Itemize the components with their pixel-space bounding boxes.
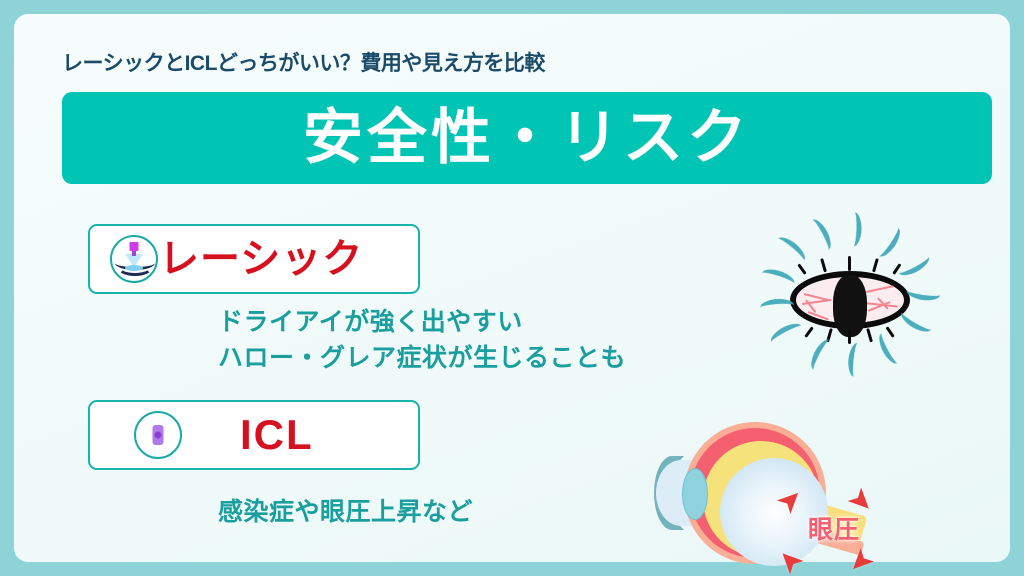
irritation-line	[768, 320, 802, 344]
eyelash	[886, 326, 895, 338]
implantable-lens-icon	[134, 411, 182, 459]
eyelash	[866, 328, 873, 342]
irritation-line	[807, 336, 831, 370]
eye-iris	[833, 275, 867, 337]
eyebrow-heading: レーシックとICLどっちがいい？費用や見え方を比較	[62, 47, 545, 77]
method-label-icl: ICL	[88, 400, 420, 470]
eye-vein	[808, 311, 829, 320]
method-label-lasik: レーシック	[88, 224, 420, 294]
lasik-risk-description: ドライアイが強く出やすい ハロー・グレア症状が生じることも	[218, 305, 626, 376]
icl-risk-line-1: 感染症や眼圧上昇など	[218, 495, 473, 531]
eye-sclera	[790, 271, 910, 329]
eye-vein	[866, 285, 894, 292]
irritation-line	[852, 212, 862, 246]
eyelash	[848, 256, 851, 271]
irritation-line	[878, 227, 904, 260]
lasik-risk-line-1: ドライアイが強く出やすい	[218, 305, 626, 341]
icl-lens-optic	[155, 432, 162, 439]
eye-graphic	[790, 271, 910, 329]
slide-card: レーシックとICLどっちがいい？費用や見え方を比較 安全性・リスク レーシック …	[14, 14, 1010, 562]
intraocular-pressure-diagram: ➤ ➤ ➤ ➤ 眼圧	[642, 420, 872, 576]
page-title: 安全性・リスク	[303, 108, 751, 168]
irritation-line	[875, 332, 899, 366]
laser-emitter-tip	[130, 242, 139, 251]
icl-risk-description: 感染症や眼圧上昇など	[218, 495, 473, 531]
eyelash	[797, 263, 806, 274]
pressure-arrow: ➤	[771, 542, 810, 576]
dry-irritated-eye-illustration	[762, 219, 938, 379]
retina-layer: ➤ ➤ ➤ ➤ 眼圧	[703, 441, 819, 557]
irritation-line	[811, 216, 835, 250]
method-label-text-lasik: レーシック	[159, 239, 363, 279]
eyelash	[848, 329, 851, 344]
eyelash	[820, 258, 827, 272]
laser-focus-pool	[125, 265, 143, 271]
pressure-label: 眼圧	[788, 510, 880, 546]
laser-eye-icon	[110, 235, 158, 283]
crystalline-lens	[682, 468, 708, 520]
eyelash	[804, 326, 813, 337]
eyelash	[872, 258, 879, 272]
slide-frame: レーシックとICLどっちがいい？費用や見え方を比較 安全性・リスク レーシック …	[0, 0, 1024, 576]
title-banner: 安全性・リスク	[62, 92, 992, 184]
irritation-line	[906, 289, 941, 303]
sclera-layer: ➤ ➤ ➤ ➤ 眼圧	[690, 428, 820, 558]
lasik-risk-line-2: ハロー・グレア症状が生じることも	[218, 341, 626, 377]
vitreous-body: ➤ ➤ ➤ ➤ 眼圧	[720, 458, 828, 566]
method-label-text-icl: ICL	[240, 414, 314, 456]
irritation-line	[777, 233, 809, 262]
irritation-line	[847, 342, 860, 377]
